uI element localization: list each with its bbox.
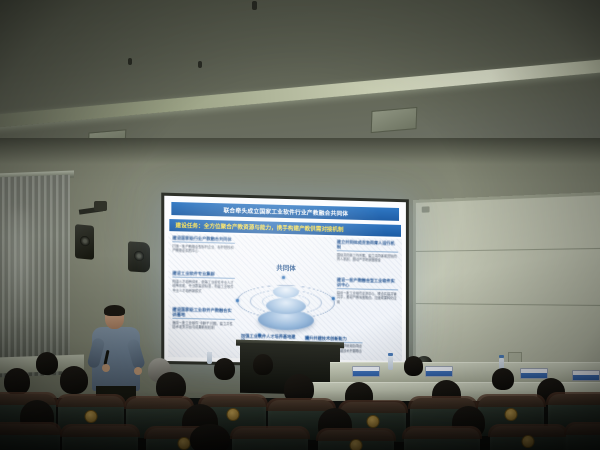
seat-rim	[546, 392, 600, 405]
presenter-hair	[104, 305, 125, 316]
audience-head	[60, 366, 88, 394]
audience-head	[492, 368, 514, 390]
seat-emblem	[178, 437, 191, 450]
slide-subtitle-text: 建设任务：全方位聚合产教资源与能力，携手构建产教供需对接机制	[175, 221, 343, 233]
water-bottle	[388, 356, 393, 370]
desk-nameplate-mic	[572, 370, 600, 381]
bottle-cap	[388, 353, 393, 356]
audience-seat	[490, 426, 566, 450]
seat-rim	[476, 394, 546, 407]
audience-seat	[318, 430, 394, 450]
wall-shadow	[0, 138, 600, 164]
audience-head	[4, 368, 30, 395]
seat-rim	[266, 398, 336, 411]
slide-box-body: 面向一批工业软件"卡脖子"问题，建立共性技术攻关平台与成果转化机制	[172, 320, 235, 331]
seat-rim	[564, 422, 600, 435]
board-clip-icon	[422, 206, 430, 212]
slide-text-box: 建立共同体成员协同育人运行机制 围绕共同体工作开展，建立共同体成员协同育人机制，…	[337, 239, 398, 263]
audience-seat	[404, 428, 480, 450]
audience-head	[190, 424, 230, 450]
seat-rim	[124, 396, 194, 409]
bottle-cap	[499, 355, 504, 358]
seat-rim	[338, 400, 408, 413]
curtain-light-glow	[2, 210, 38, 330]
seat-rim	[60, 424, 140, 437]
wall-speaker	[75, 224, 94, 260]
slide-title-text: 联合牵头成立国家工业软件行业产教融合共同体	[223, 206, 348, 218]
diagram-disc-top	[273, 286, 299, 299]
speaker-cone-icon	[80, 235, 90, 246]
lecture-hall-room: 联合牵头成立国家工业软件行业产教融合共同体 建设任务：全方位聚合产教资源与能力，…	[0, 0, 600, 450]
presentation-slide: 联合牵头成立国家工业软件行业产教融合共同体 建设任务：全方位聚合产教资源与能力，…	[164, 196, 406, 365]
diagram-center-label: 共同体	[276, 262, 295, 272]
seat-rim	[0, 422, 62, 435]
slide-text-box: 建设一批产教融合型工业软件实训中心 建设一批工业软件实训中心，联合共建共管共享，…	[337, 277, 398, 306]
audience-seat	[62, 426, 138, 450]
seat-rim	[230, 426, 310, 439]
ceiling-vent	[371, 107, 418, 133]
camera-icon	[94, 201, 107, 211]
seat-emblem	[227, 408, 240, 421]
slide-box-heading: 建设国家级行业产教融合共同体	[172, 235, 235, 244]
slide-text-box: 建设国家级工业软件产教融合实训基地 面向一批工业软件"卡脖子"问题，建立共性技术…	[172, 307, 235, 331]
slide-box-body: 打造一批产教融合型标杆企业、标杆院校和产教融合实践中心	[172, 244, 235, 255]
slide-box-body: 围绕共同体工作开展，建立共同体成员协同育人机制，推动产学研深度融合	[337, 253, 398, 264]
slide-box-body: 建设一批工业软件实训中心，联合共建共管共享，推动产教深度融合，加速成果转化应用	[337, 291, 398, 306]
audience-head	[404, 356, 423, 376]
audience-seat	[0, 424, 60, 450]
slide-text-box: 建设国家级行业产教融合共同体 打造一批产教融合型标杆企业、标杆院校和产教融合实践…	[172, 235, 235, 254]
audience-area	[0, 352, 600, 450]
photo-scene: 联合牵头成立国家工业软件行业产教融合共同体 建设任务：全方位聚合产教资源与能力，…	[0, 0, 600, 450]
sprinkler-icon	[252, 1, 257, 10]
board-seam	[416, 303, 600, 306]
speaker-cone-icon	[134, 250, 144, 261]
seat-emblem	[350, 439, 363, 450]
orbit-node	[282, 276, 285, 279]
slide-box-heading: 建设国家级工业软件产教融合实训基地	[172, 307, 235, 320]
slide-box-heading: 建立共同体成员协同育人运行机制	[337, 239, 398, 252]
seat-emblem	[522, 435, 535, 448]
screen-surface: 联合牵头成立国家工业软件行业产教融合共同体 建设任务：全方位聚合产教资源与能力，…	[164, 196, 406, 365]
seat-emblem	[505, 408, 518, 421]
audience-seat	[232, 428, 308, 450]
ceiling	[0, 0, 600, 160]
desk-nameplate-mic	[425, 366, 453, 377]
seat-emblem	[85, 410, 98, 423]
audience-head	[253, 354, 273, 375]
seat-emblem	[367, 415, 380, 428]
slide-text-box: 建设工业软件专业集群 构建人才培养体系，统筹工业软件专业人才培养标准，专业群建设…	[172, 270, 235, 294]
orbit-node	[236, 299, 239, 302]
audience-seat	[566, 424, 600, 450]
board-seam	[416, 248, 600, 252]
desk-nameplate-mic	[520, 368, 548, 379]
wall-speaker	[128, 241, 150, 273]
slide-title-bar: 联合牵头成立国家工业软件行业产教融合共同体	[171, 202, 399, 221]
slide-box-body: 构建人才培养体系，统筹工业软件专业人才培养标准，专业群建设标准，构建工业软件专业…	[172, 279, 235, 294]
audience-head	[214, 358, 235, 380]
audience-head	[36, 352, 58, 375]
seat-rim	[402, 426, 482, 439]
desk-nameplate-mic	[352, 366, 380, 377]
orbit-node	[332, 297, 335, 300]
slide-box-heading: 建设一批产教融合型工业软件实训中心	[337, 277, 398, 290]
sprinkler-icon	[128, 58, 132, 65]
slide-box-heading: 建设工业软件专业集群	[172, 270, 235, 278]
seat-rim	[56, 394, 126, 407]
wall-whiteboard	[413, 191, 600, 375]
orbit-diagram: 共同体	[232, 255, 340, 345]
seat-rim	[198, 394, 268, 407]
water-bottle	[207, 352, 212, 364]
ceiling-light-strip	[0, 54, 600, 130]
sprinkler-icon	[198, 61, 202, 68]
